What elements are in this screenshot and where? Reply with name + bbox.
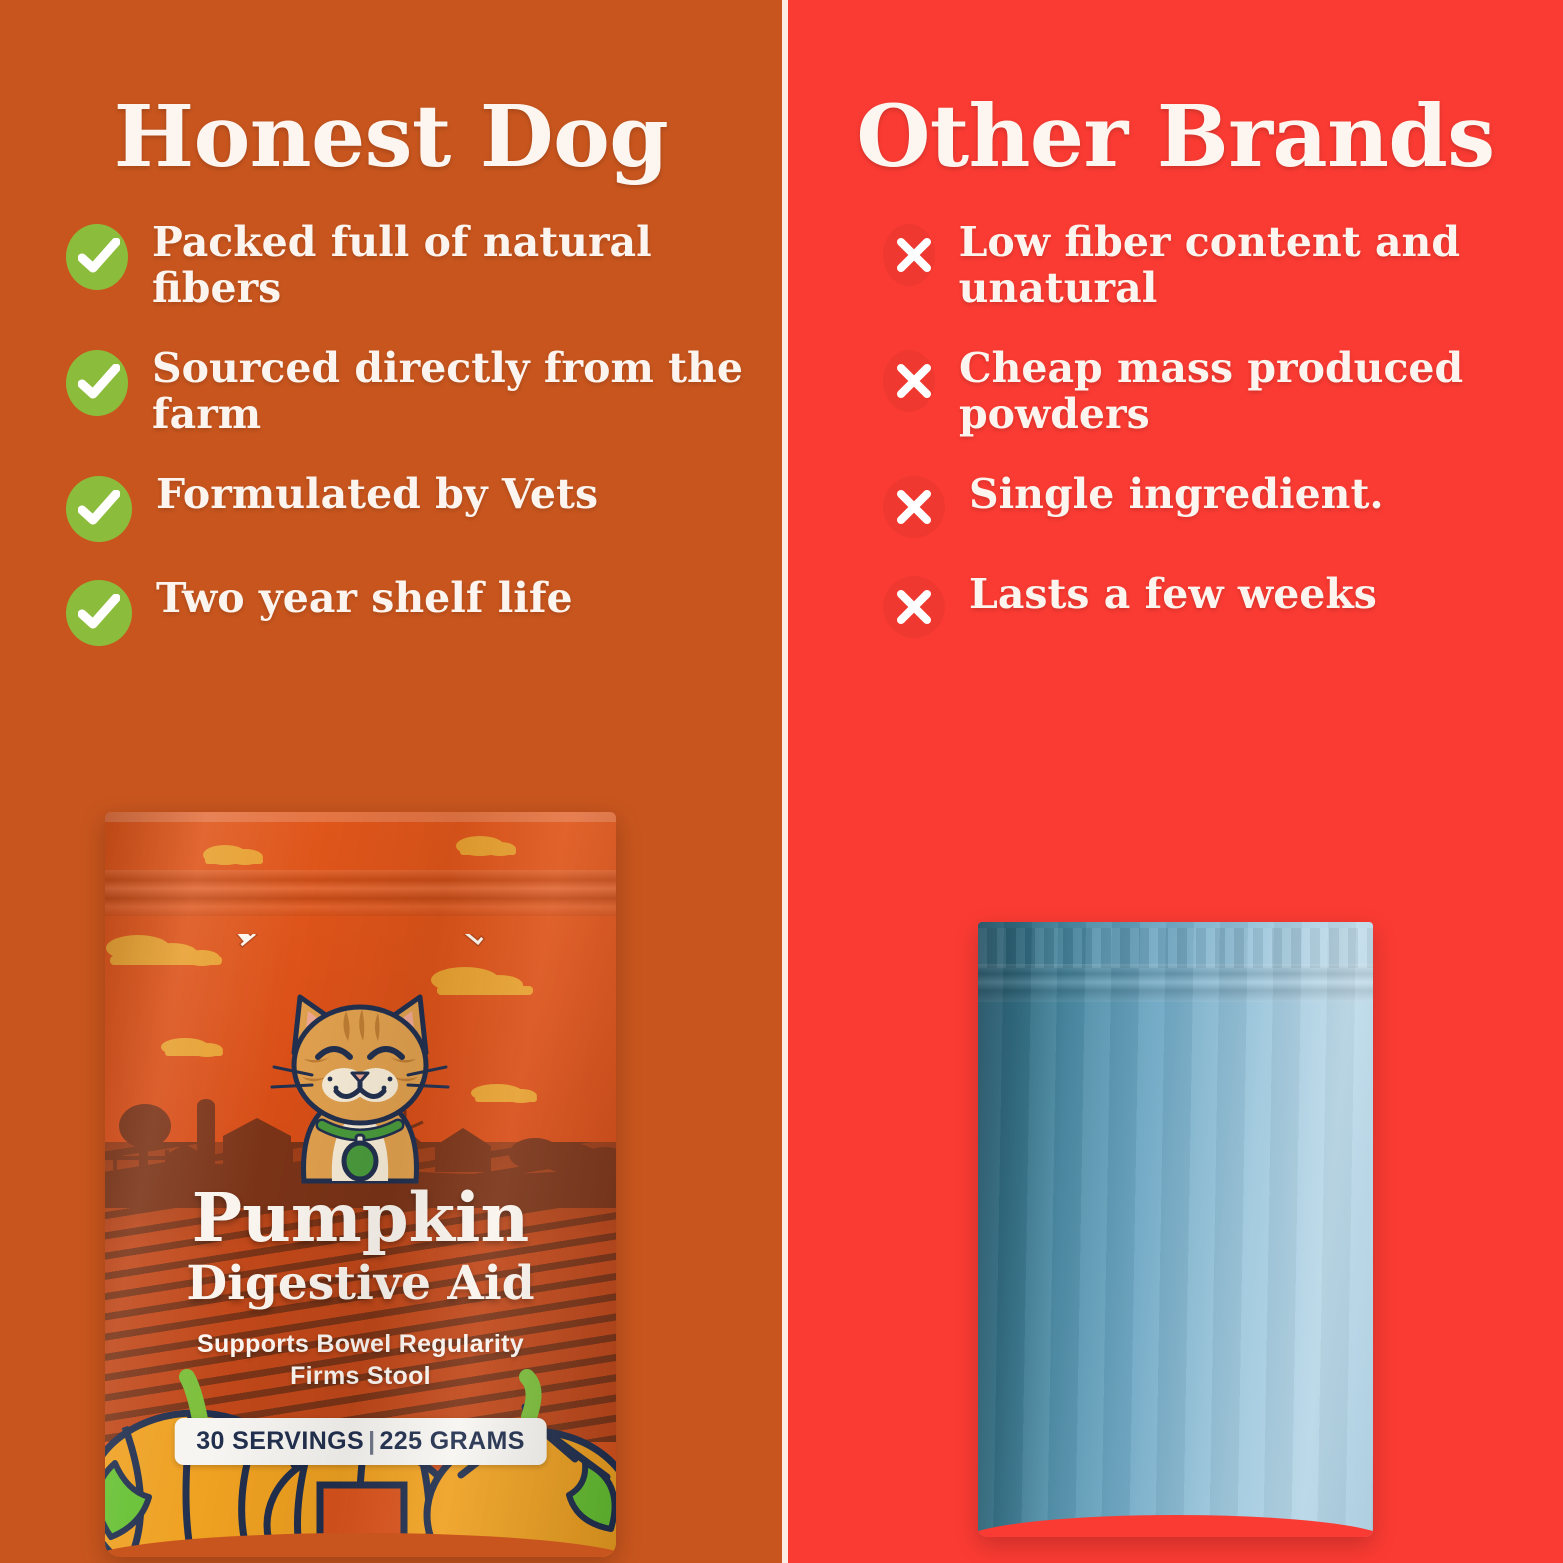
list-item: Formulated by Vets (66, 472, 752, 542)
competitor-pouch-creases (978, 922, 1373, 1537)
check-icon (66, 224, 128, 290)
servings-count: 30 SERVINGS (196, 1427, 364, 1455)
x-icon (883, 576, 945, 638)
x-icon (883, 350, 935, 412)
other-brands-panel: Other Brands Low fiber content and unatu… (788, 0, 1563, 1563)
list-item: Cheap mass produced powders (883, 346, 1553, 438)
right-drawbacks-list: Low fiber content and unatural Cheap mas… (883, 220, 1563, 638)
product-claim-line-1: Supports Bowel Regularity (105, 1328, 616, 1360)
svg-text:PAWFUEL: PAWFUEL (215, 934, 507, 956)
list-item-label: Single ingredient. (969, 472, 1384, 518)
list-item: Low fiber content and unatural (883, 220, 1553, 312)
check-icon (66, 476, 132, 542)
list-item: Lasts a few weeks (883, 572, 1553, 638)
list-item-label: Low fiber content and unatural (959, 220, 1553, 312)
list-item-label: Lasts a few weeks (969, 572, 1377, 618)
competitor-pouch-zipper-seal (978, 964, 1373, 1002)
left-panel-title: Honest Dog (0, 0, 782, 180)
pawfuel-brand-text: PAWFUEL (215, 934, 507, 956)
check-icon (66, 350, 128, 416)
pawfuel-product-pouch: PAWFUEL (105, 812, 616, 1557)
list-item: Sourced directly from the farm (66, 346, 752, 438)
list-item: Two year shelf life (66, 576, 752, 646)
list-item-label: Sourced directly from the farm (152, 346, 752, 438)
x-icon (883, 476, 945, 538)
comparison-infographic: Honest Dog Packed full of natural fibers… (0, 0, 1563, 1563)
cat-mascot-icon (260, 975, 460, 1185)
badge-separator: | (364, 1427, 379, 1455)
list-item-label: Packed full of natural fibers (152, 220, 752, 312)
product-subtitle: Digestive Aid (105, 1260, 616, 1307)
list-item: Packed full of natural fibers (66, 220, 752, 312)
competitor-pouch-top-crinkle (978, 928, 1373, 968)
list-item-label: Formulated by Vets (156, 472, 598, 518)
check-icon (66, 580, 132, 646)
product-claim-line-2: Firms Stool (105, 1360, 616, 1392)
product-claims: Supports Bowel Regularity Firms Stool (105, 1328, 616, 1392)
competitor-pouch-bottom-curve (978, 1515, 1373, 1537)
list-item-label: Two year shelf life (156, 576, 573, 622)
honest-dog-panel: Honest Dog Packed full of natural fibers… (0, 0, 782, 1563)
list-item: Single ingredient. (883, 472, 1553, 538)
net-weight: 225 GRAMS (380, 1427, 525, 1455)
list-item-label: Cheap mass produced powders (959, 346, 1553, 438)
x-icon (883, 224, 935, 286)
right-panel-title: Other Brands (788, 0, 1563, 180)
left-benefits-list: Packed full of natural fibers Sourced di… (0, 220, 782, 646)
servings-badge: 30 SERVINGS|225 GRAMS (174, 1418, 547, 1465)
competitor-product-pouch (978, 922, 1373, 1537)
product-title: Pumpkin (105, 1184, 616, 1251)
